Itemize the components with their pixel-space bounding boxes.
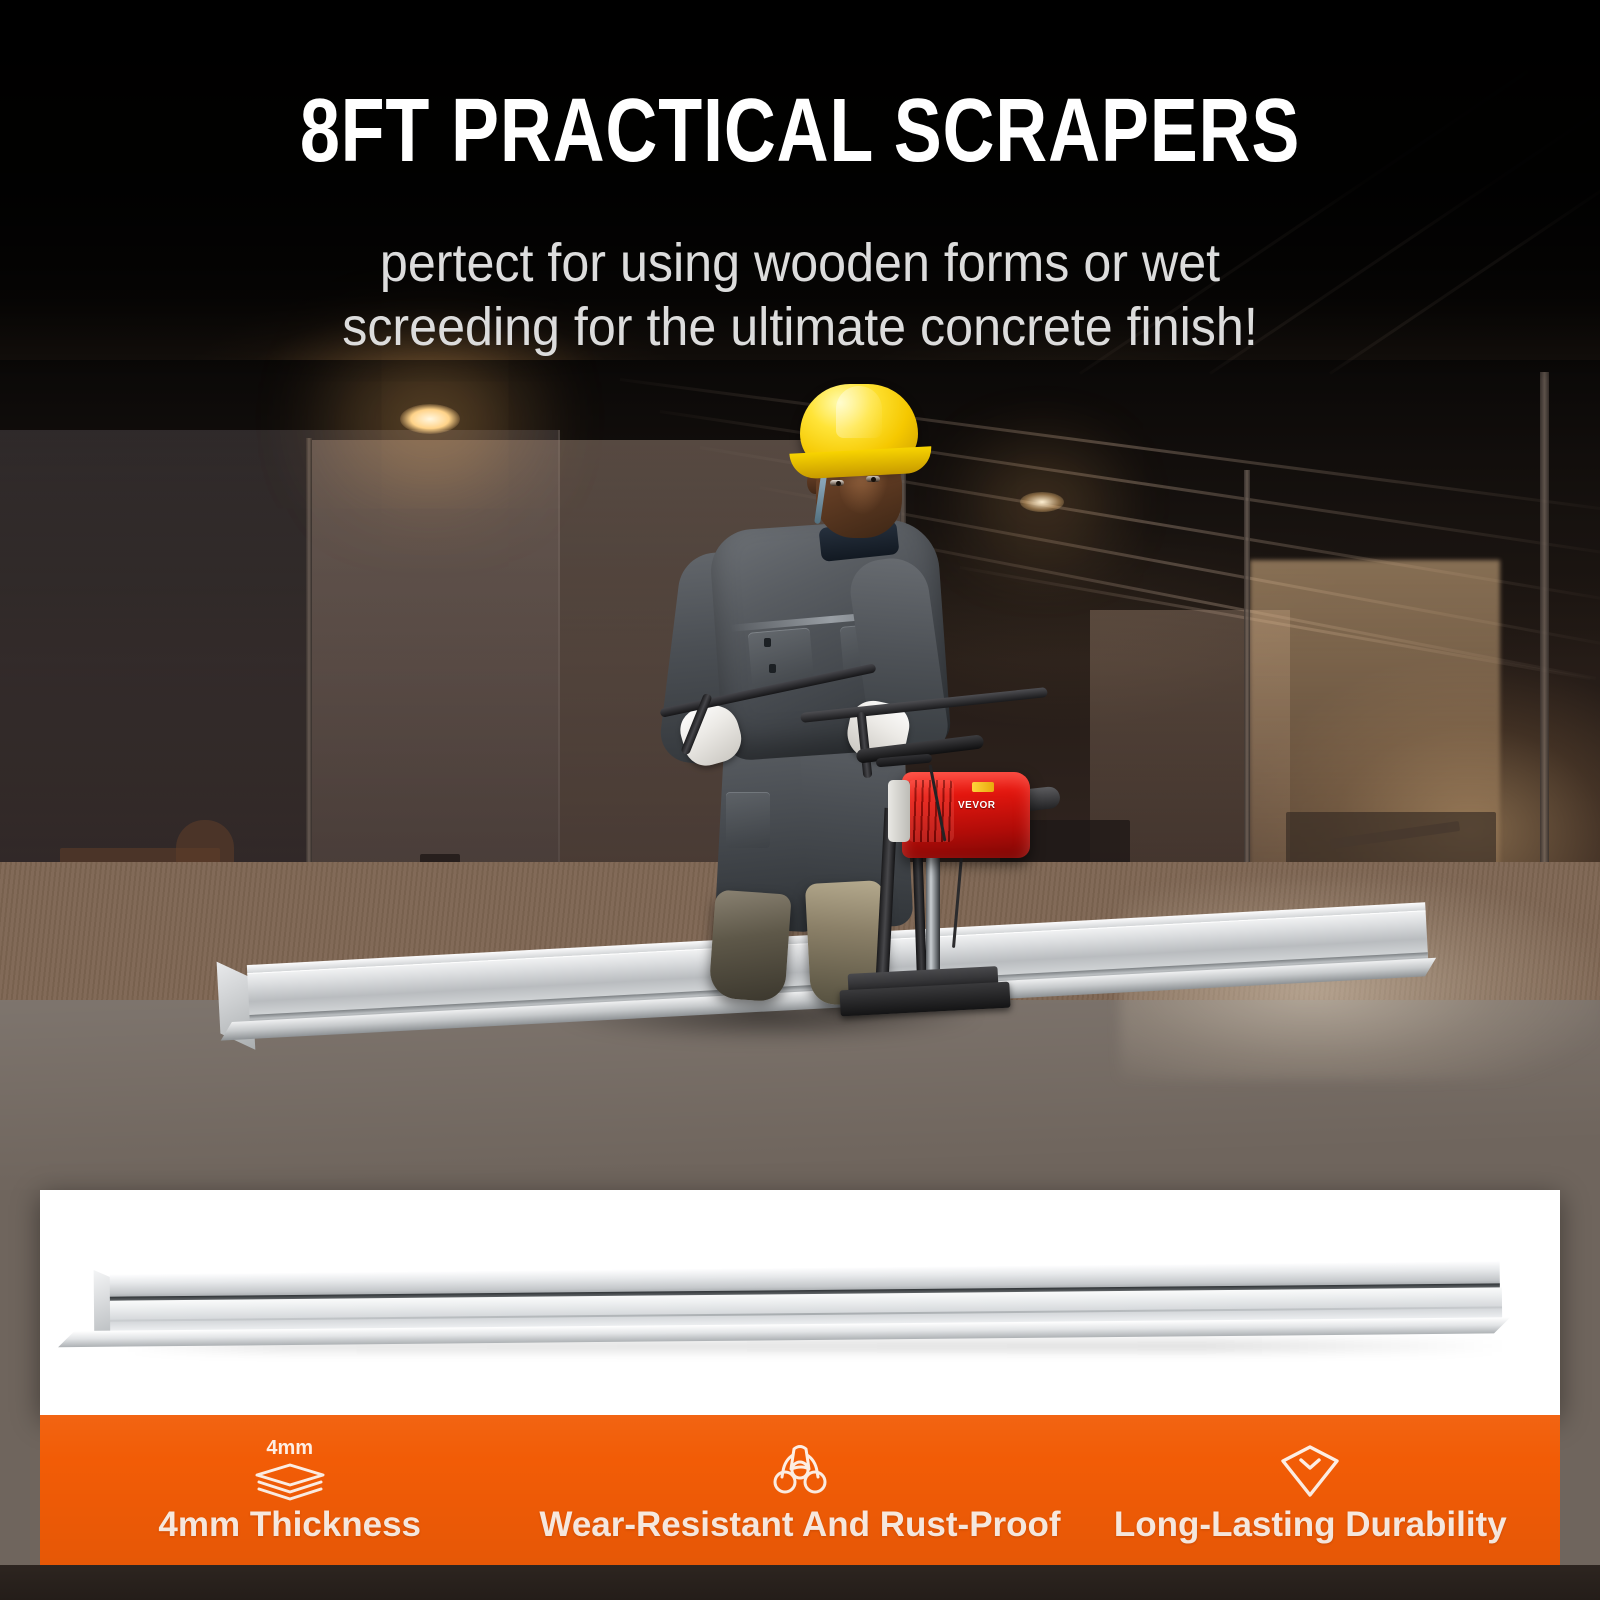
machine-cable [952, 856, 963, 948]
power-screed-machine: VEVOR [840, 660, 1060, 1060]
feature-icon-container: 4mm [253, 1439, 327, 1501]
diamond-check-icon [1277, 1441, 1343, 1501]
feature-label-thickness: 4mm Thickness [158, 1507, 421, 1542]
engine-cooling-fins [908, 780, 954, 842]
layers-stack-glyph [253, 1461, 327, 1501]
hard-hat-crest [836, 386, 882, 438]
feature-item-durability: Long-Lasting Durability [1061, 1415, 1560, 1565]
feature-label-wear-resistant: Wear-Resistant And Rust-Proof [539, 1507, 1060, 1542]
layers-stack-icon: 4mm [253, 1438, 327, 1501]
feature-bar: 4mm 4mm Thickness [40, 1415, 1560, 1565]
engine-fuel-tank [888, 780, 910, 842]
engine-warning-label [972, 782, 994, 792]
feature-item-wear-resistant: Wear-Resistant And Rust-Proof [539, 1415, 1060, 1565]
thickness-badge: 4mm [266, 1438, 313, 1458]
subtitle-line-1: pertect for using wooden forms or wet [279, 232, 1321, 296]
page-title: 8FT PRACTICAL SCRAPERS [160, 86, 1440, 176]
worker-pupil-right [871, 477, 876, 482]
product-marketing-poster: VEVOR 8FT PRACTICAL SCRAPERS pertect for… [0, 0, 1600, 1600]
engine-brand-label: VEVOR [958, 800, 1008, 813]
feature-label-durability: Long-Lasting Durability [1114, 1507, 1507, 1542]
feature-icon-container [1277, 1439, 1343, 1501]
steel-column [1244, 470, 1250, 890]
worker-pupil-left [836, 481, 841, 486]
binoculars-icon [769, 1439, 831, 1501]
footer-strip [0, 1565, 1600, 1600]
product-screed-blade [110, 1261, 1511, 1350]
handlebar-arm-right [857, 712, 873, 779]
product-closeup-panel [40, 1190, 1560, 1415]
steel-column [1540, 372, 1549, 892]
subtitle-line-2: screeding for the ultimate concrete fini… [279, 296, 1321, 360]
worker-left-boot [708, 889, 791, 1002]
worker-cargo-pocket [726, 792, 770, 848]
steel-column [306, 438, 312, 908]
feature-icon-container [769, 1439, 831, 1501]
worker-button [769, 664, 776, 673]
feature-item-thickness: 4mm 4mm Thickness [40, 1415, 539, 1565]
page-subtitle: pertect for using wooden forms or wet sc… [279, 232, 1321, 359]
ceiling-lamp [400, 404, 460, 434]
ceiling-lamp-far [1020, 492, 1064, 512]
worker-button [764, 638, 771, 647]
